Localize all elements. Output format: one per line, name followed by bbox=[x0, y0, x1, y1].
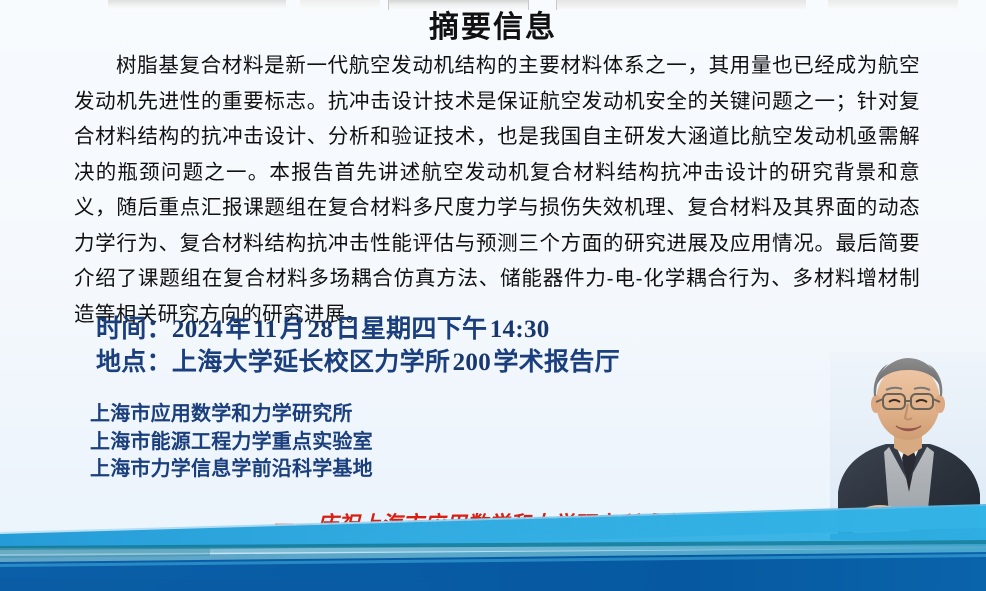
event-meta-block: 时间：2024 年 11 月 28 日星期四下午 14:30 地点：上海大学延长… bbox=[96, 313, 620, 379]
place-venue: 上海大学延长校区力学所 bbox=[172, 348, 450, 376]
anniversary-line: ——庆祝上海市应用数学和力学研究所成立 40 周年 bbox=[274, 508, 761, 538]
event-time-line: 时间：2024 年 11 月 28 日星期四下午 14:30 bbox=[96, 313, 620, 346]
organizer-item: 上海市应用数学和力学研究所 bbox=[90, 401, 373, 429]
anniversary-text-before: 庆祝上海市应用数学和力学研究所成立 bbox=[317, 512, 681, 536]
time-month: 11 bbox=[253, 316, 277, 343]
place-hall: 学术报告厅 bbox=[493, 348, 620, 376]
anniversary-text-after: 周年 bbox=[718, 512, 761, 536]
time-day-unit: 日星期四下午 bbox=[336, 315, 488, 343]
event-place-line: 地点：上海大学延长校区力学所 200 学术报告厅 bbox=[96, 346, 620, 379]
place-room-number: 200 bbox=[453, 349, 491, 376]
anniversary-dash: —— bbox=[274, 512, 317, 536]
slide-title: 摘要信息 bbox=[0, 2, 986, 46]
time-label: 时间： bbox=[96, 315, 172, 343]
organizer-item: 上海市能源工程力学重点实验室 bbox=[90, 429, 373, 457]
anniversary-years: 40 bbox=[688, 512, 710, 536]
organizer-list: 上海市应用数学和力学研究所 上海市能源工程力学重点实验室 上海市力学信息学前沿科… bbox=[90, 401, 373, 484]
abstract-paragraph: 树脂基复合材料是新一代航空发动机结构的主要材料体系之一，其用量也已经成为航空发动… bbox=[74, 48, 920, 332]
place-label: 地点： bbox=[96, 348, 172, 376]
time-year-unit: 年 bbox=[226, 315, 251, 343]
organizer-item: 上海市力学信息学前沿科学基地 bbox=[90, 456, 373, 484]
scholar-portrait-photo bbox=[830, 352, 986, 540]
time-year: 2024 bbox=[172, 316, 223, 343]
time-day: 28 bbox=[308, 316, 334, 343]
time-month-unit: 月 bbox=[280, 315, 305, 343]
time-clock: 14:30 bbox=[490, 316, 550, 343]
portrait-illustration bbox=[830, 352, 986, 540]
presentation-slide: 摘要信息 树脂基复合材料是新一代航空发动机结构的主要材料体系之一，其用量也已经成… bbox=[0, 0, 986, 591]
